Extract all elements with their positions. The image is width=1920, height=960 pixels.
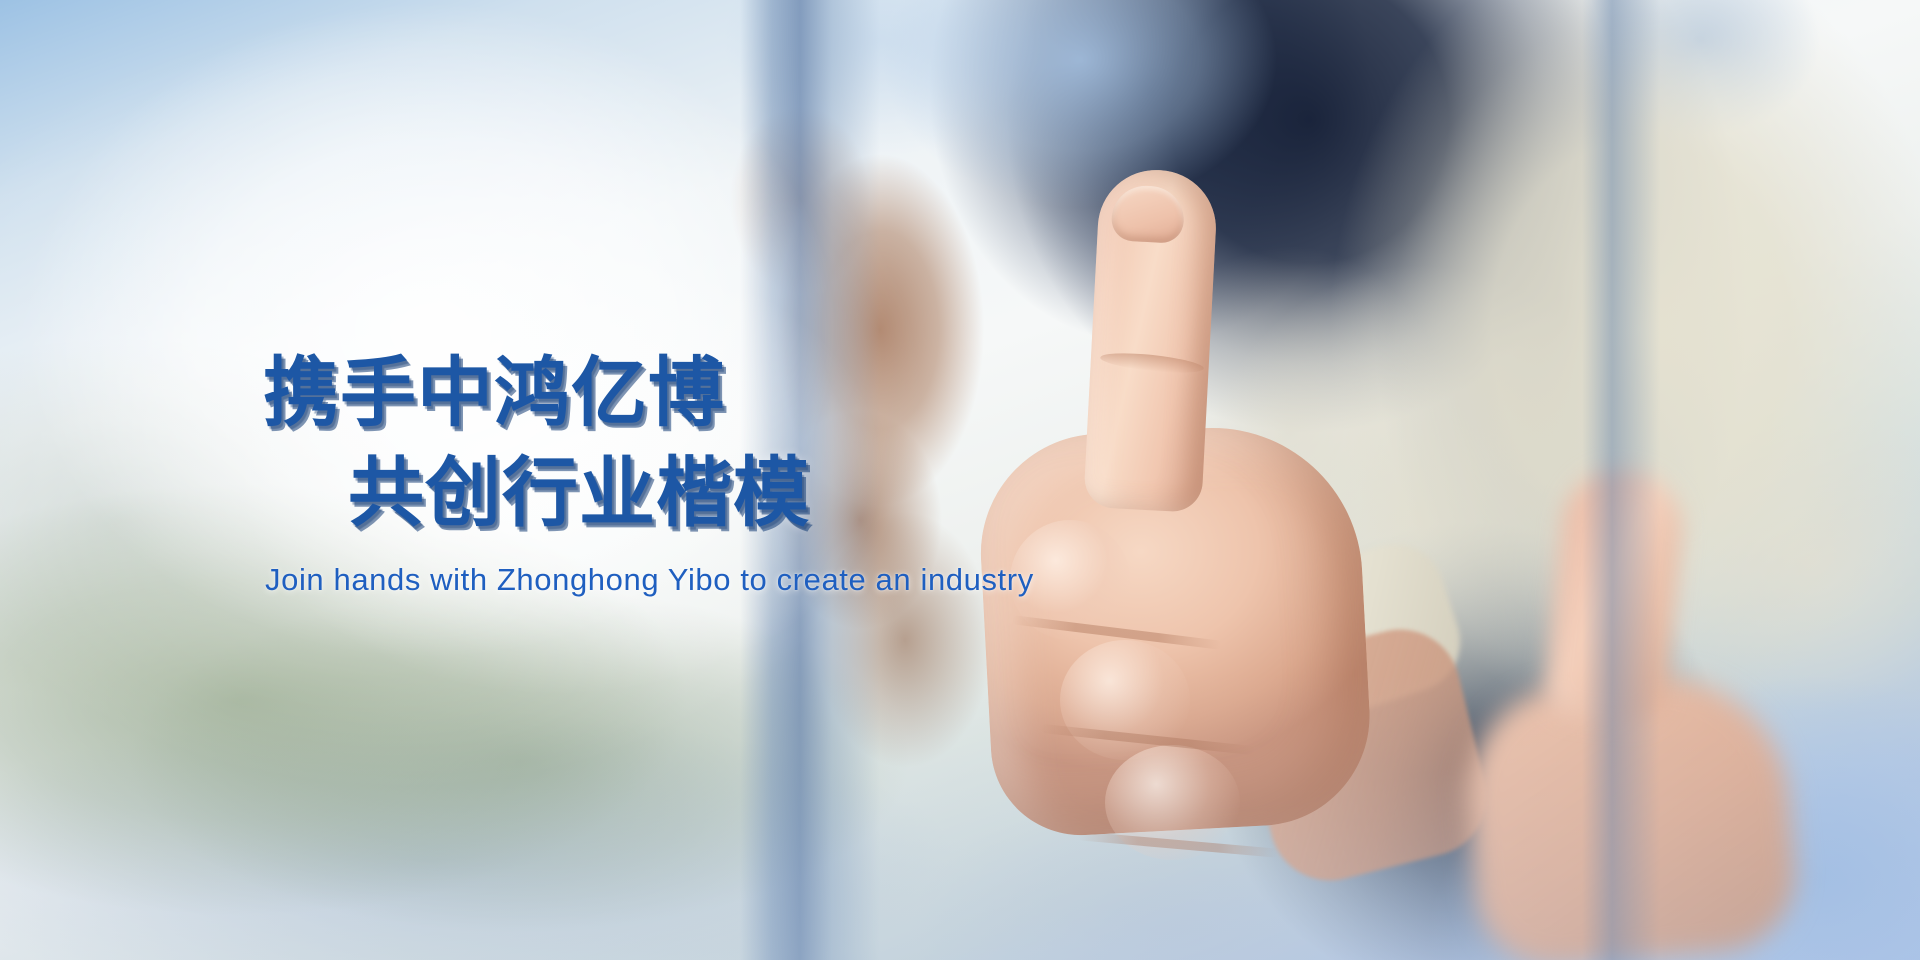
hero-banner: 携手中鸿亿博 共创行业楷模 Join hands with Zhonghong … <box>0 0 1920 960</box>
banner-copy: 携手中鸿亿博 共创行业楷模 Join hands with Zhonghong … <box>0 0 1920 960</box>
banner-subtitle: Join hands with Zhonghong Yibo to create… <box>265 562 1034 598</box>
headline-line-2: 共创行业楷模 <box>348 456 810 532</box>
headline-line-1: 携手中鸿亿博 <box>263 356 725 432</box>
